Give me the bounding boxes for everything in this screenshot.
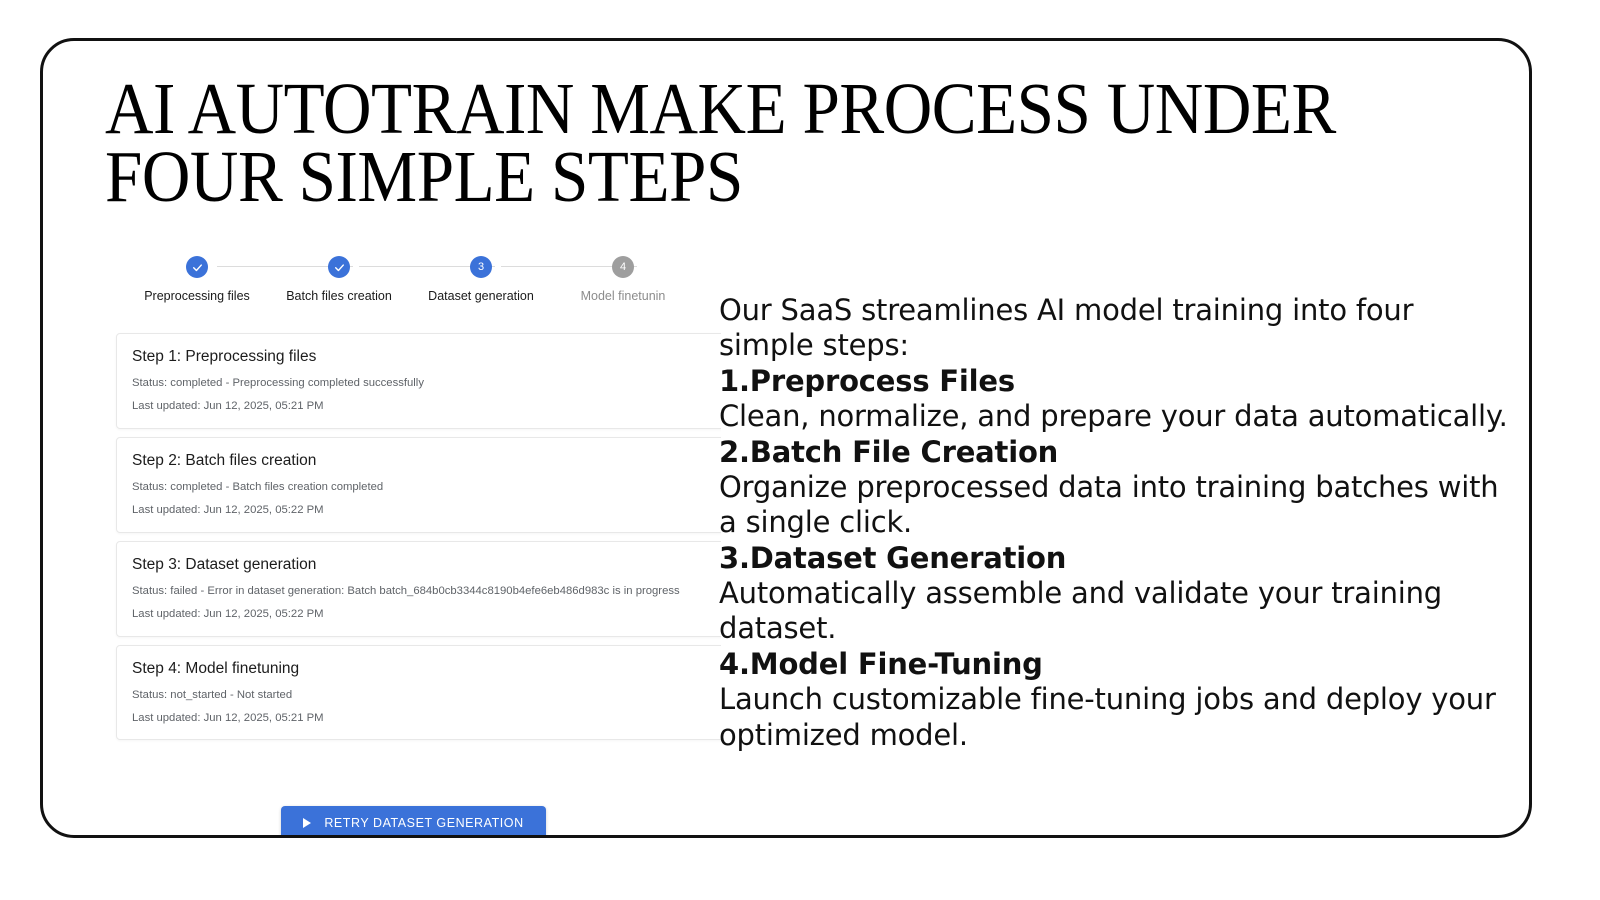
- step-card-title: Step 2: Batch files creation: [132, 452, 721, 470]
- description-column: Our SaaS streamlines AI model training i…: [719, 293, 1509, 753]
- retry-button-row: RETRY DATASET GENERATION: [106, 806, 721, 838]
- stepper-item-model-finetuning[interactable]: 4 Model finetunin: [552, 256, 694, 303]
- copy-heading-4: 4.Model Fine-Tuning: [719, 647, 1509, 682]
- stepper-item-label: Batch files creation: [268, 289, 410, 303]
- step-status-circle: [186, 256, 208, 278]
- step-card[interactable]: Step 1: Preprocessing files Status: comp…: [116, 333, 721, 429]
- step-card-status: Status: completed - Batch files creation…: [132, 481, 721, 493]
- step-card-status: Status: failed - Error in dataset genera…: [132, 585, 721, 597]
- step-card-title: Step 4: Model finetuning: [132, 660, 721, 678]
- copy-heading-2: 2.Batch File Creation: [719, 435, 1509, 470]
- progress-stepper: Preprocessing files Batch files creation…: [126, 256, 721, 326]
- step-card-title: Step 1: Preprocessing files: [132, 348, 721, 366]
- retry-dataset-generation-button[interactable]: RETRY DATASET GENERATION: [281, 806, 545, 838]
- page-title: AI AUTOTRAIN MAKE PROCESS UNDER FOUR SIM…: [105, 75, 1393, 211]
- copy-heading-3: 3.Dataset Generation: [719, 541, 1509, 576]
- step-card-list: Step 1: Preprocessing files Status: comp…: [116, 333, 721, 748]
- step-card-title: Step 3: Dataset generation: [132, 556, 721, 574]
- copy-heading-1: 1.Preprocess Files: [719, 364, 1509, 399]
- step-card-updated: Last updated: Jun 12, 2025, 05:22 PM: [132, 608, 721, 620]
- step-card-updated: Last updated: Jun 12, 2025, 05:21 PM: [132, 712, 721, 724]
- app-screenshot-panel: Preprocessing files Batch files creation…: [106, 241, 721, 838]
- play-icon: [303, 818, 311, 828]
- copy-body-3: Automatically assemble and validate your…: [719, 576, 1509, 647]
- check-icon: [333, 261, 346, 274]
- step-card-updated: Last updated: Jun 12, 2025, 05:22 PM: [132, 504, 721, 516]
- step-card[interactable]: Step 3: Dataset generation Status: faile…: [116, 541, 721, 637]
- step-card-updated: Last updated: Jun 12, 2025, 05:21 PM: [132, 400, 721, 412]
- step-status-circle: 4: [612, 256, 634, 278]
- copy-body-1: Clean, normalize, and prepare your data …: [719, 399, 1509, 434]
- stepper-item-label: Dataset generation: [410, 289, 552, 303]
- check-icon: [191, 261, 204, 274]
- stepper-item-dataset-generation[interactable]: 3 Dataset generation: [410, 256, 552, 303]
- step-card[interactable]: Step 2: Batch files creation Status: com…: [116, 437, 721, 533]
- copy-intro: Our SaaS streamlines AI model training i…: [719, 293, 1509, 364]
- step-card-status: Status: not_started - Not started: [132, 689, 721, 701]
- stepper-item-label: Preprocessing files: [126, 289, 268, 303]
- copy-body-4: Launch customizable fine-tuning jobs and…: [719, 682, 1509, 753]
- stepper-item-preprocessing-files[interactable]: Preprocessing files: [126, 256, 268, 303]
- retry-button-label: RETRY DATASET GENERATION: [324, 816, 523, 830]
- step-status-circle: [328, 256, 350, 278]
- slide-frame: AI AUTOTRAIN MAKE PROCESS UNDER FOUR SIM…: [40, 38, 1532, 838]
- step-card[interactable]: Step 4: Model finetuning Status: not_sta…: [116, 645, 721, 741]
- step-status-circle: 3: [470, 256, 492, 278]
- stepper-item-label: Model finetunin: [552, 289, 694, 303]
- stepper-item-batch-files-creation[interactable]: Batch files creation: [268, 256, 410, 303]
- step-card-status: Status: completed - Preprocessing comple…: [132, 377, 721, 389]
- copy-body-2: Organize preprocessed data into training…: [719, 470, 1509, 541]
